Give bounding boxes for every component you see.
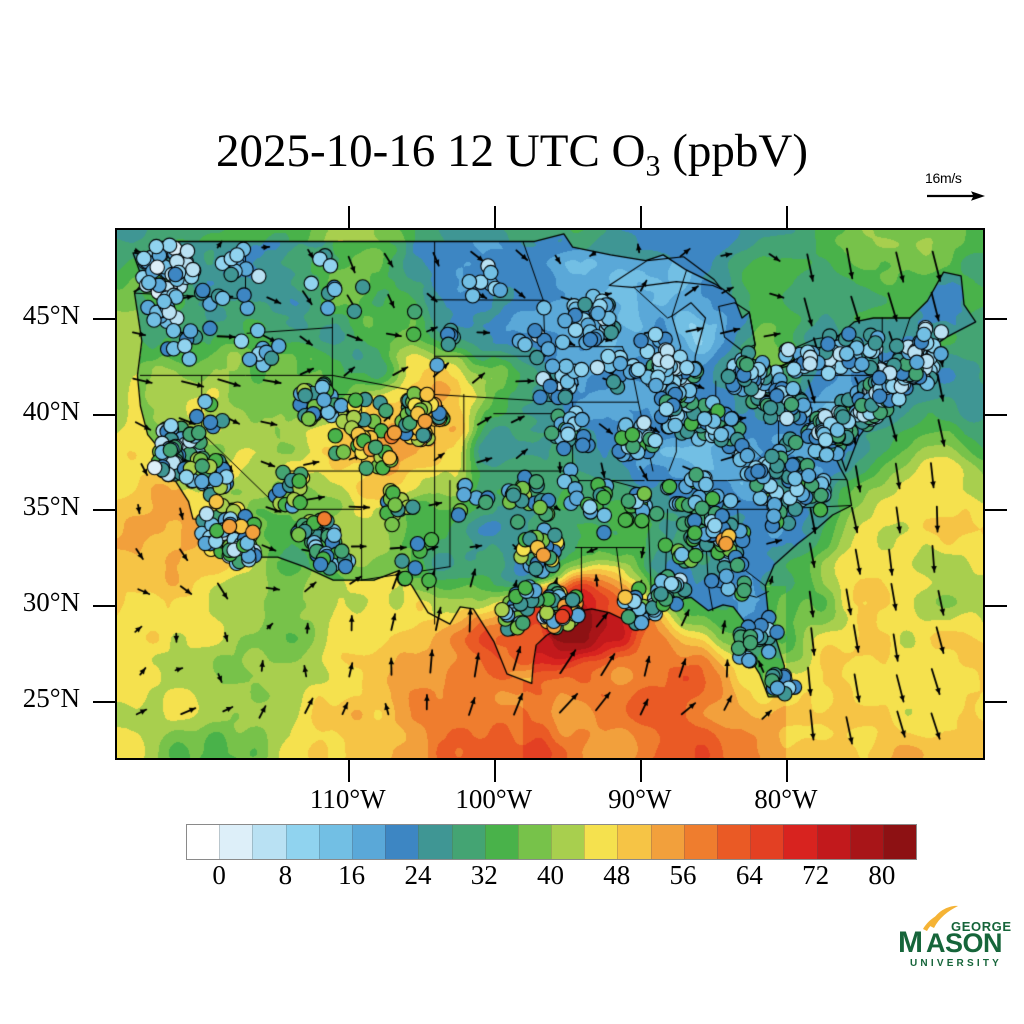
logo-university-text: UNIVERSITY bbox=[910, 958, 1002, 969]
colorbar-cell bbox=[783, 825, 816, 859]
lat-tick bbox=[985, 509, 1007, 511]
colorbar-tick-label: 32 bbox=[471, 860, 498, 891]
colorbar-cell bbox=[883, 825, 916, 859]
lat-label: 25°N bbox=[0, 683, 80, 714]
lat-label: 30°N bbox=[0, 587, 80, 618]
lon-tick bbox=[494, 760, 496, 782]
colorbar-cell bbox=[286, 825, 319, 859]
colorbar-tick-label: 16 bbox=[338, 860, 365, 891]
lon-tick bbox=[494, 206, 496, 228]
colorbar-cell bbox=[584, 825, 617, 859]
colorbar-tick-label: 80 bbox=[868, 860, 895, 891]
lat-tick bbox=[93, 509, 115, 511]
colorbar-cell bbox=[518, 825, 551, 859]
colorbar-tick-label: 72 bbox=[802, 860, 829, 891]
right-arrow-icon bbox=[925, 189, 1015, 208]
colorbar-cell bbox=[319, 825, 352, 859]
lat-tick bbox=[93, 605, 115, 607]
lon-label: 80°W bbox=[716, 784, 856, 815]
lat-tick bbox=[93, 318, 115, 320]
lat-tick bbox=[985, 701, 1007, 703]
ozone-contour-field bbox=[117, 230, 983, 758]
lon-label: 100°W bbox=[424, 784, 564, 815]
colorbar-tick-label: 56 bbox=[670, 860, 697, 891]
lat-label: 35°N bbox=[0, 491, 80, 522]
colorbar-cell bbox=[452, 825, 485, 859]
colorbar-cell bbox=[352, 825, 385, 859]
colorbar-tick-label: 64 bbox=[736, 860, 763, 891]
colorbar[interactable] bbox=[186, 824, 917, 860]
lon-label: 90°W bbox=[570, 784, 710, 815]
lat-label: 40°N bbox=[0, 396, 80, 427]
logo-george-text: GEORGE bbox=[951, 919, 1012, 934]
colorbar-cell bbox=[750, 825, 783, 859]
colorbar-tick-label: 48 bbox=[603, 860, 630, 891]
lon-tick bbox=[786, 206, 788, 228]
title-tail: (ppbV) bbox=[661, 125, 809, 177]
lat-label: 45°N bbox=[0, 300, 80, 331]
colorbar-cell bbox=[850, 825, 883, 859]
colorbar-cell bbox=[418, 825, 451, 859]
title-subscript: 3 bbox=[646, 150, 661, 183]
colorbar-tick-label: 40 bbox=[537, 860, 564, 891]
colorbar-tick-labels: 08162432404856647280 bbox=[0, 860, 1024, 894]
colorbar-cell bbox=[651, 825, 684, 859]
lat-tick bbox=[985, 414, 1007, 416]
page-title: 2025-10-16 12 UTC O3 (ppbV) bbox=[0, 124, 1024, 184]
colorbar-tick-label: 24 bbox=[404, 860, 431, 891]
colorbar-tick-label: 0 bbox=[212, 860, 226, 891]
colorbar-cell bbox=[187, 825, 219, 859]
lon-tick bbox=[640, 760, 642, 782]
wind-scale-label: 16m/s bbox=[925, 170, 1015, 186]
lon-tick bbox=[786, 760, 788, 782]
colorbar-cell bbox=[817, 825, 850, 859]
colorbar-tick-label: 8 bbox=[279, 860, 293, 891]
lat-tick bbox=[985, 318, 1007, 320]
lat-tick bbox=[93, 414, 115, 416]
wind-scale-key: 16m/s bbox=[925, 170, 1015, 208]
lon-label: 110°W bbox=[278, 784, 418, 815]
colorbar-cell bbox=[551, 825, 584, 859]
title-main: 2025-10-16 12 UTC O bbox=[216, 125, 646, 177]
colorbar-cell bbox=[219, 825, 252, 859]
colorbar-cell bbox=[717, 825, 750, 859]
map-plot-area[interactable] bbox=[115, 228, 985, 760]
lon-tick bbox=[348, 206, 350, 228]
colorbar-cell bbox=[485, 825, 518, 859]
lat-tick bbox=[93, 701, 115, 703]
colorbar-cell bbox=[385, 825, 418, 859]
svg-text:M: M bbox=[898, 926, 923, 959]
colorbar-cell bbox=[684, 825, 717, 859]
lon-tick bbox=[640, 206, 642, 228]
colorbar-cell bbox=[617, 825, 650, 859]
lat-tick bbox=[985, 605, 1007, 607]
gmu-logo: M ASON GEORGE UNIVERSITY bbox=[896, 905, 1012, 971]
lon-tick bbox=[348, 760, 350, 782]
colorbar-cell bbox=[252, 825, 285, 859]
